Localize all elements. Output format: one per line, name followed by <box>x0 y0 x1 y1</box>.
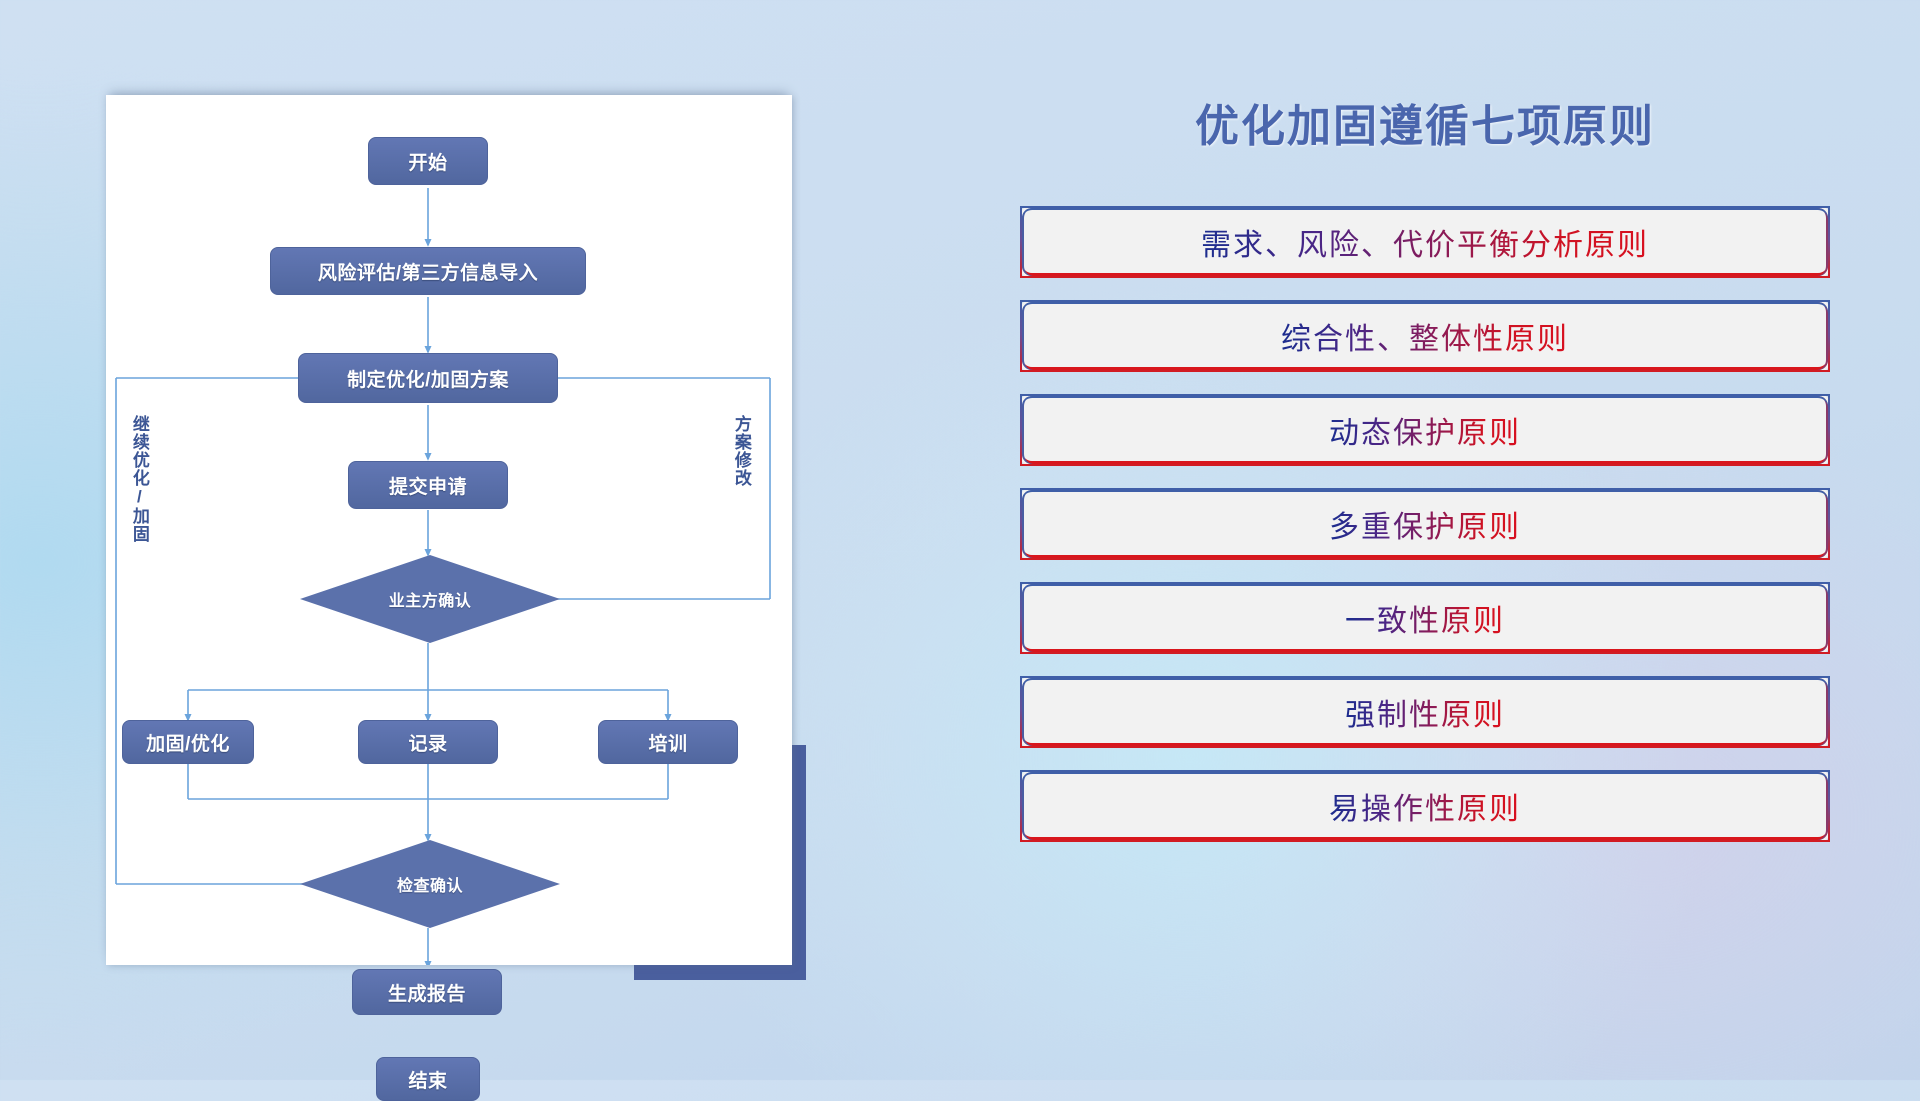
flow-node-end[interactable]: 结束 <box>376 1057 480 1101</box>
principle-item[interactable]: 需求、风险、代价平衡分析原则 <box>1020 206 1830 278</box>
flow-node-submit-application[interactable]: 提交申请 <box>348 461 508 509</box>
principles-panel: 优化加固遵循七项原则 需求、风险、代价平衡分析原则 综合性、整体性原则 动态保护… <box>1020 90 1830 1010</box>
page-title: 优化加固遵循七项原则 <box>1020 90 1830 154</box>
flow-node-label: 提交申请 <box>389 472 467 499</box>
flow-node-label: 业主方确认 <box>389 587 472 611</box>
flow-node-record[interactable]: 记录 <box>358 720 498 764</box>
flowchart-connectors <box>106 95 792 965</box>
flow-node-reinforce[interactable]: 加固/优化 <box>122 720 254 764</box>
principle-item[interactable]: 一致性原则 <box>1020 582 1830 654</box>
flow-edge-label-continue-optimize: 继续优化/加固 <box>130 415 148 543</box>
principles-list: 需求、风险、代价平衡分析原则 综合性、整体性原则 动态保护原则 多重保护原则 一… <box>1020 206 1830 842</box>
flow-node-label: 风险评估/第三方信息导入 <box>318 258 538 285</box>
flow-node-label: 检查确认 <box>397 872 463 896</box>
principle-label: 动态保护原则 <box>1329 408 1521 452</box>
principle-label: 一致性原则 <box>1345 596 1505 640</box>
principle-item[interactable]: 强制性原则 <box>1020 676 1830 748</box>
flow-node-label: 制定优化/加固方案 <box>347 365 509 392</box>
flow-node-check-confirm[interactable]: 检查确认 <box>300 840 560 928</box>
principle-label: 强制性原则 <box>1345 690 1505 734</box>
flow-node-risk-assessment[interactable]: 风险评估/第三方信息导入 <box>270 247 586 295</box>
flow-node-label: 开始 <box>408 148 447 175</box>
flow-node-label: 结束 <box>408 1066 447 1093</box>
principle-label: 多重保护原则 <box>1329 502 1521 546</box>
flow-node-start[interactable]: 开始 <box>368 137 488 185</box>
flow-node-owner-confirm[interactable]: 业主方确认 <box>300 555 560 643</box>
principle-label: 易操作性原则 <box>1329 784 1521 828</box>
principle-item[interactable]: 动态保护原则 <box>1020 394 1830 466</box>
flow-node-label: 加固/优化 <box>146 729 230 756</box>
flow-node-generate-report[interactable]: 生成报告 <box>352 969 502 1015</box>
flow-edge-label-plan-revision: 方案修改 <box>732 415 750 487</box>
flow-node-training[interactable]: 培训 <box>598 720 738 764</box>
flow-node-label: 记录 <box>408 729 447 756</box>
flowchart-card: 开始 风险评估/第三方信息导入 制定优化/加固方案 提交申请 业主方确认 加固/… <box>106 95 792 965</box>
principle-label: 需求、风险、代价平衡分析原则 <box>1201 220 1649 264</box>
principle-label: 综合性、整体性原则 <box>1281 314 1569 358</box>
principle-item[interactable]: 综合性、整体性原则 <box>1020 300 1830 372</box>
principle-item[interactable]: 多重保护原则 <box>1020 488 1830 560</box>
principle-item[interactable]: 易操作性原则 <box>1020 770 1830 842</box>
flow-node-plan[interactable]: 制定优化/加固方案 <box>298 353 558 403</box>
flow-node-label: 生成报告 <box>388 979 466 1006</box>
flow-node-label: 培训 <box>648 729 687 756</box>
